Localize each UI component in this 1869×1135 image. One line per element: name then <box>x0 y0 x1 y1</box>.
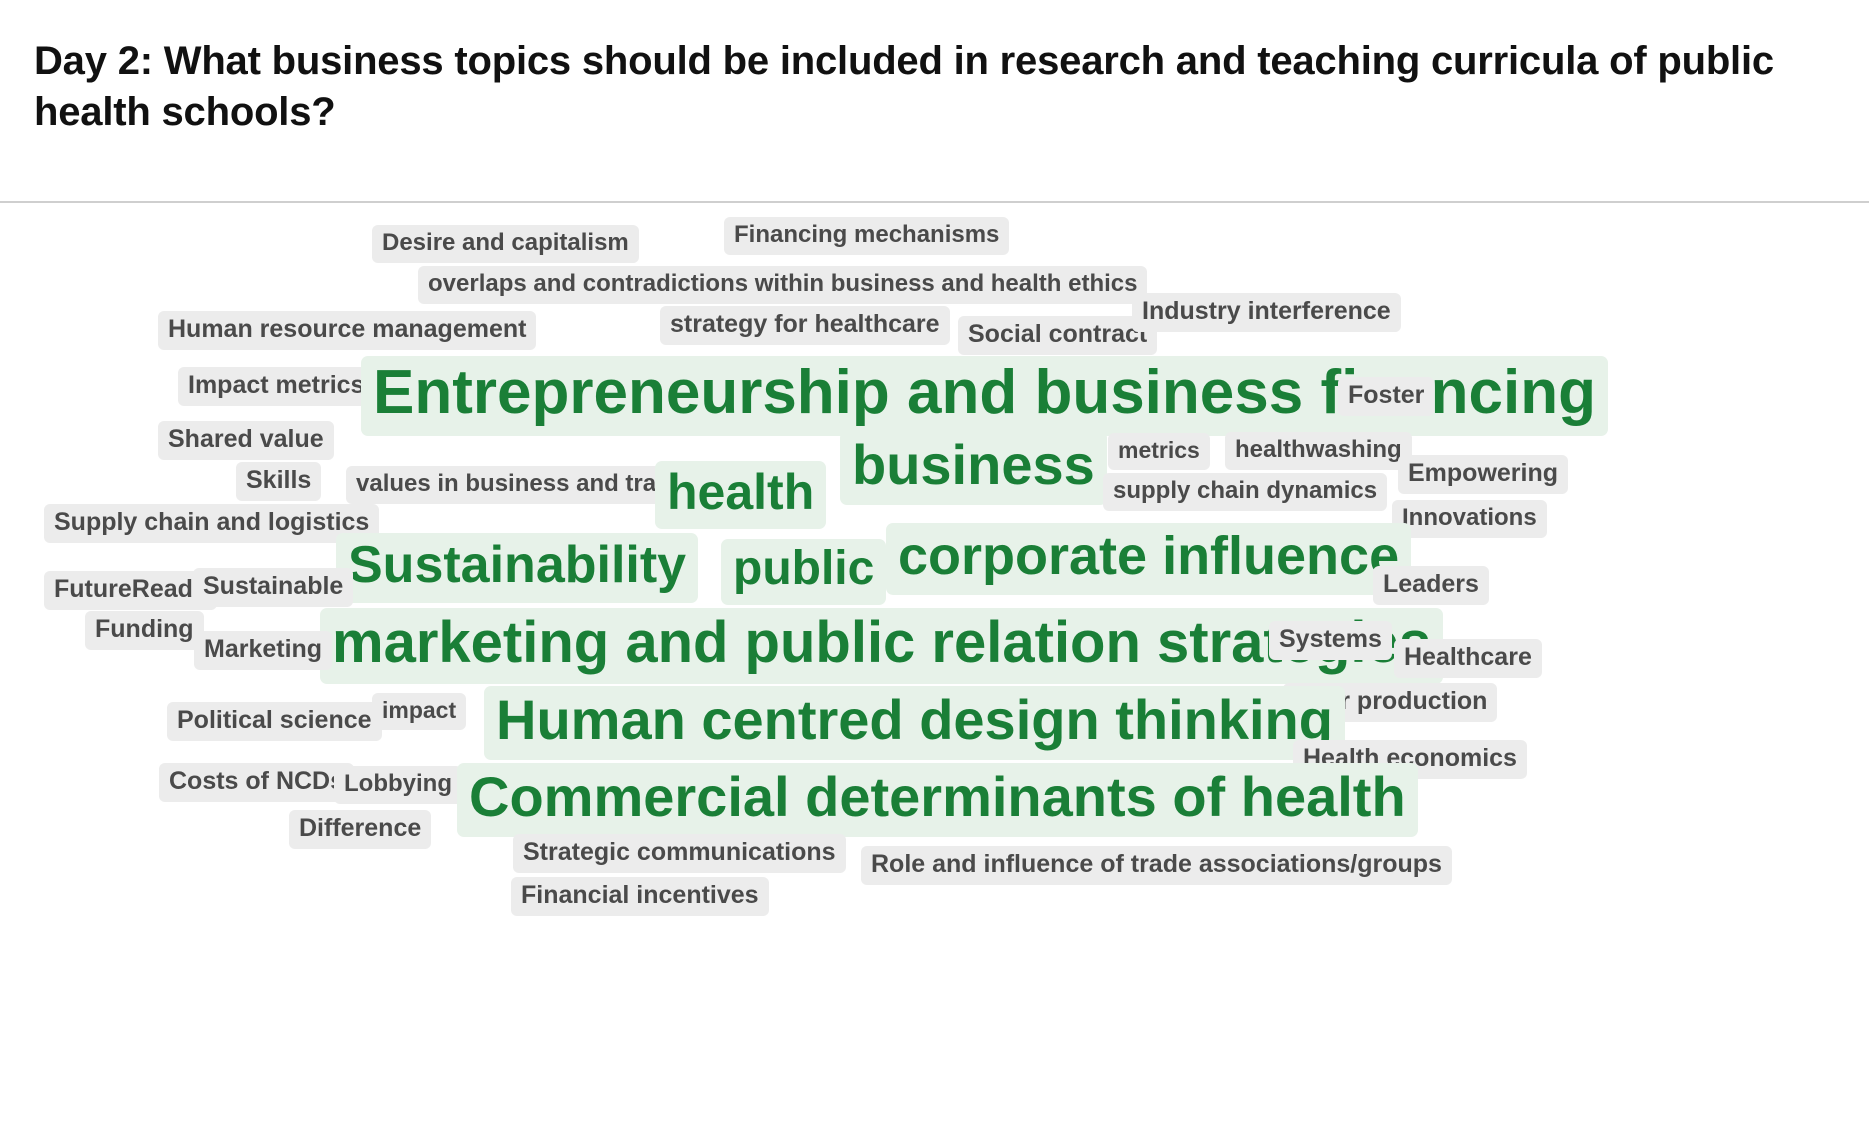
word-cloud-item[interactable]: metrics <box>1108 433 1210 470</box>
word-cloud-item[interactable]: Sustainability <box>336 533 698 603</box>
word-cloud-item[interactable]: Marketing <box>194 631 332 670</box>
word-cloud-item[interactable]: healthwashing <box>1225 432 1412 470</box>
word-cloud-page: Day 2: What business topics should be in… <box>0 0 1869 1135</box>
word-cloud-item[interactable]: Lobbying <box>334 766 462 804</box>
word-cloud-item[interactable]: Social contract <box>958 316 1157 355</box>
word-cloud-item[interactable]: values in business and trade <box>346 466 694 504</box>
word-cloud-canvas: Desire and capitalismFinancing mechanism… <box>0 203 1869 1135</box>
word-cloud-item[interactable]: Difference <box>289 810 431 849</box>
word-cloud-item[interactable]: Skills <box>236 462 321 501</box>
word-cloud-item[interactable]: overlaps and contradictions within busin… <box>418 266 1147 304</box>
word-cloud-item[interactable]: impact <box>372 693 466 730</box>
word-cloud-item[interactable]: Systems <box>1269 621 1392 660</box>
word-cloud-item[interactable]: Strategic communications <box>513 834 846 873</box>
page-title: Day 2: What business topics should be in… <box>34 36 1794 138</box>
word-cloud-item[interactable]: Financial incentives <box>511 877 769 916</box>
word-cloud-item[interactable]: Shared value <box>158 421 334 460</box>
word-cloud-item[interactable]: corporate influence <box>886 523 1411 595</box>
word-cloud-item[interactable]: Role and influence of trade associations… <box>861 846 1452 885</box>
word-cloud-item[interactable]: Funding <box>85 611 204 650</box>
word-cloud-item[interactable]: public <box>721 539 886 605</box>
word-cloud-item[interactable]: supply chain dynamics <box>1103 473 1387 511</box>
word-cloud-item[interactable]: FutureReady <box>44 571 217 610</box>
word-cloud-item[interactable]: Desire and capitalism <box>372 225 639 263</box>
word-cloud-item[interactable]: strategy for healthcare <box>660 306 950 345</box>
word-cloud-item[interactable]: business <box>840 431 1107 505</box>
word-cloud-item[interactable]: Impact metrics <box>178 367 374 406</box>
word-cloud-item[interactable]: Empowering <box>1398 455 1568 494</box>
word-cloud-item[interactable]: Costs of NCDs <box>159 763 354 802</box>
word-cloud-item[interactable]: Supply chain and logistics <box>44 504 379 543</box>
word-cloud-item[interactable]: Human resource management <box>158 311 536 350</box>
word-cloud-item[interactable]: health <box>655 461 826 529</box>
word-cloud-item[interactable]: Commercial determinants of health <box>457 763 1418 837</box>
word-cloud-item[interactable]: Innovations <box>1392 500 1547 538</box>
word-cloud-item[interactable]: Foster <box>1338 377 1434 416</box>
word-cloud-item[interactable]: Financing mechanisms <box>724 217 1009 255</box>
page-header: Day 2: What business topics should be in… <box>0 0 1869 203</box>
word-cloud-item[interactable]: Healthcare <box>1394 639 1542 678</box>
word-cloud-item[interactable]: Sustainable <box>193 568 353 607</box>
word-cloud-item[interactable]: Industry interference <box>1132 293 1401 332</box>
word-cloud-item[interactable]: Human centred design thinking <box>484 686 1345 760</box>
word-cloud-item[interactable]: Political science <box>167 702 382 741</box>
word-cloud-item[interactable]: Leaders <box>1373 566 1489 605</box>
